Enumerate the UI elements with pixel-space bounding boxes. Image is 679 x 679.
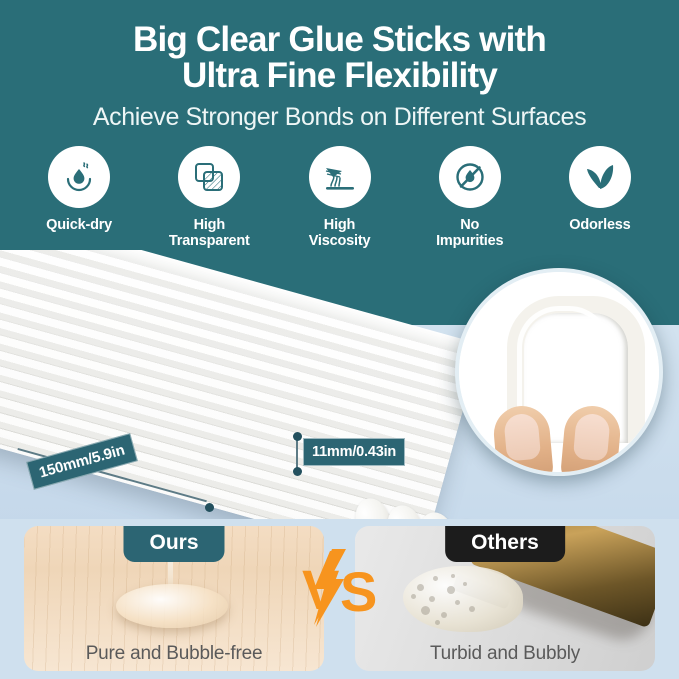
no-impurities-droplet-icon bbox=[439, 146, 501, 208]
page-subtitle: Achieve Stronger Bonds on Different Surf… bbox=[0, 103, 679, 132]
glue-bubbles bbox=[403, 566, 523, 632]
feature-item-high-viscosity: High Viscosity bbox=[274, 146, 404, 249]
transparent-squares-icon bbox=[178, 146, 240, 208]
product-infographic: Big Clear Glue Sticks with Ultra Fine Fl… bbox=[0, 0, 679, 679]
feature-label: No Impurities bbox=[436, 217, 503, 249]
bubble bbox=[429, 596, 435, 602]
bubble bbox=[463, 582, 467, 586]
fingernail-right bbox=[573, 413, 611, 462]
feature-label-line2: Transparent bbox=[169, 233, 250, 249]
bubble bbox=[469, 606, 475, 612]
diameter-dot-bottom bbox=[293, 467, 302, 476]
bubble bbox=[455, 600, 460, 605]
dimension-diameter-label: 11mm/0.43in bbox=[303, 438, 405, 466]
bubble bbox=[451, 574, 455, 578]
feature-item-high-transparent: High Transparent bbox=[144, 146, 274, 249]
feature-label-line1: No bbox=[460, 217, 479, 233]
caption-ours: Pure and Bubble-free bbox=[24, 643, 324, 665]
bubble bbox=[417, 584, 424, 591]
fingernail-left bbox=[503, 413, 541, 462]
bent-glue-stick-highlight bbox=[517, 306, 611, 421]
bubble bbox=[441, 612, 447, 618]
feature-label-line2: Impurities bbox=[436, 233, 503, 249]
feature-label-line2: Viscosity bbox=[309, 233, 371, 249]
feature-label-line1: High bbox=[324, 217, 355, 233]
page-title: Big Clear Glue Sticks with Ultra Fine Fl… bbox=[0, 22, 679, 94]
feature-item-odorless: Odorless bbox=[535, 146, 665, 249]
svg-text:S: S bbox=[340, 560, 377, 623]
caption-others: Turbid and Bubbly bbox=[355, 643, 655, 665]
diameter-dot-top bbox=[293, 432, 302, 441]
feature-label-line1: High bbox=[194, 217, 225, 233]
badge-others: Others bbox=[445, 526, 565, 562]
feature-list: Quick-dry High Transparent bbox=[14, 146, 665, 249]
title-line-1: Big Clear Glue Sticks with bbox=[133, 20, 546, 59]
badge-ours: Ours bbox=[123, 526, 224, 562]
clear-glue-blob bbox=[116, 584, 228, 628]
pouring-viscosity-icon bbox=[309, 146, 371, 208]
feature-item-no-impurities: No Impurities bbox=[405, 146, 535, 249]
bubble bbox=[433, 576, 438, 581]
leaves-icon bbox=[569, 146, 631, 208]
bubble bbox=[447, 586, 455, 594]
water-drop-heat-icon bbox=[48, 146, 110, 208]
bubble bbox=[435, 620, 440, 625]
bubble bbox=[421, 606, 430, 615]
length-dot-end bbox=[205, 503, 214, 512]
feature-label: Odorless bbox=[569, 217, 630, 233]
comparison-panel-ours: Ours Pure and Bubble-free bbox=[24, 526, 324, 671]
vs-logo: V S bbox=[296, 549, 382, 627]
comparison-panel-others: Others Turbid and Bubbly bbox=[355, 526, 655, 671]
bubble bbox=[411, 594, 416, 599]
feature-label-line1: Odorless bbox=[569, 217, 630, 233]
feature-label-line1: Quick-dry bbox=[46, 217, 112, 233]
title-line-2: Ultra Fine Flexibility bbox=[0, 58, 679, 94]
feature-label: High Transparent bbox=[169, 217, 250, 249]
feature-label: High Viscosity bbox=[309, 217, 371, 249]
feature-label: Quick-dry bbox=[46, 217, 112, 233]
flexibility-inset bbox=[455, 268, 663, 476]
feature-item-quick-dry: Quick-dry bbox=[14, 146, 144, 249]
